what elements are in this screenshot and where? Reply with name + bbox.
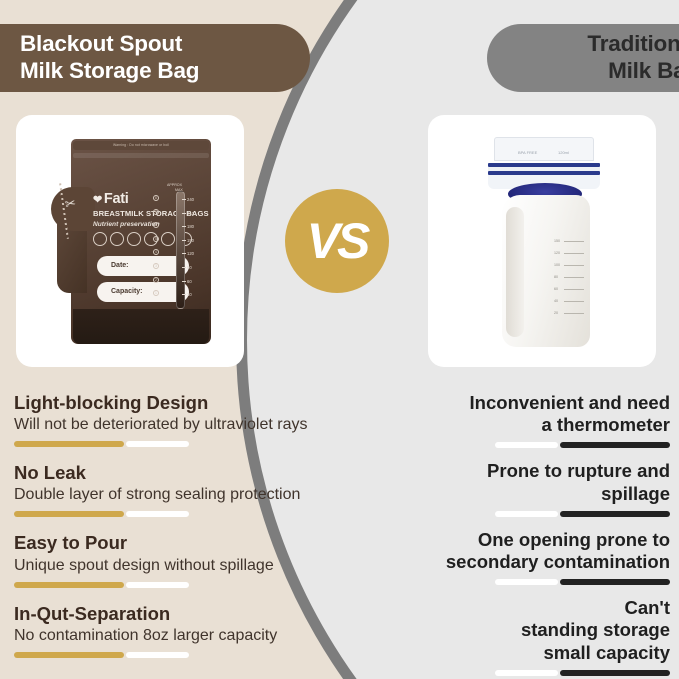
accent-bar-gold	[14, 582, 124, 588]
right-header-text: Traditional Milk Bag	[587, 31, 679, 84]
left-feature-title: No Leak	[14, 462, 354, 484]
accent-bar-white	[495, 670, 558, 676]
accent-bar-white	[126, 582, 189, 588]
traditional-scale-line	[564, 289, 584, 290]
left-header-text: Blackout Spout Milk Storage Bag	[20, 31, 199, 84]
left-feature-underline	[14, 652, 354, 658]
right-feature-line-1: Inconvenient and need	[358, 392, 670, 414]
bag-ml-tick: 90	[187, 265, 192, 270]
right-product-card: BPA FREE 120ml 15012010080604020	[428, 115, 656, 367]
accent-bar-dark	[560, 511, 670, 517]
bag-oz-tick: 4	[153, 249, 159, 255]
traditional-milk-bag-image: BPA FREE 120ml 15012010080604020	[480, 137, 608, 347]
left-product-card: Warning : Do not microwave or boil ✂ ❤ F…	[16, 115, 244, 367]
accent-bar-white	[126, 511, 189, 517]
left-header-line-1: Blackout Spout	[20, 31, 199, 58]
accent-bar-dark	[560, 442, 670, 448]
right-feature-line-1: Prone to rupture and	[358, 460, 670, 482]
accent-bar-white	[126, 652, 189, 658]
bag-oz-tick: 1	[153, 290, 159, 296]
recycle-icon	[110, 232, 124, 246]
left-feature-item: Easy to PourUnique spout design without …	[14, 532, 354, 587]
right-feature-line-1: One opening prone to	[358, 529, 670, 551]
left-feature-item: Light-blocking DesignWill not be deterio…	[14, 392, 354, 447]
left-feature-item: No LeakDouble layer of strong sealing pr…	[14, 462, 354, 517]
traditional-scale-line	[564, 313, 584, 314]
bag-measurement-window	[176, 191, 185, 309]
traditional-bag-fold	[506, 207, 524, 337]
right-feature-line-2: spillage	[358, 483, 670, 505]
traditional-scale-label: 150	[554, 239, 560, 243]
right-feature-underline	[358, 579, 670, 585]
right-header-pill: Traditional Milk Bag	[487, 24, 679, 92]
comparison-infographic: Blackout Spout Milk Storage Bag Traditio…	[0, 0, 679, 679]
right-feature-item: Inconvenient and needa thermometer	[358, 392, 670, 448]
bag-oz-tick: 3	[153, 263, 159, 269]
traditional-bag-measurement-scale: 15012010080604020	[554, 241, 584, 329]
right-feature-underline	[358, 442, 670, 448]
accent-bar-white	[126, 441, 189, 447]
left-feature-title: Easy to Pour	[14, 532, 354, 554]
bag-seal	[73, 153, 209, 158]
traditional-scale-line	[564, 241, 584, 242]
bag-brand-name: Fati	[104, 191, 129, 207]
right-feature-underline	[358, 511, 670, 517]
accent-bar-gold	[14, 511, 124, 517]
traditional-bag-label-left: BPA FREE	[518, 150, 537, 155]
bag-oz-tick: 5	[153, 236, 159, 242]
left-header-pill: Blackout Spout Milk Storage Bag	[0, 24, 310, 92]
bag-ml-tick: 240	[187, 197, 194, 202]
right-feature-item: Prone to rupture andspillage	[358, 460, 670, 516]
right-header-line-1: Traditional	[587, 31, 679, 58]
traditional-scale-line	[564, 277, 584, 278]
bag-oz-tick: 7	[153, 209, 159, 215]
right-header-line-2: Milk Bag	[587, 58, 679, 85]
traditional-scale-label: 20	[554, 311, 558, 315]
bag-oz-tick: 8	[153, 195, 159, 201]
left-feature-item: In-Qut-SeparationNo contamination 8oz la…	[14, 603, 354, 658]
traditional-scale-line	[564, 253, 584, 254]
blackout-spout-milk-bag-image: Warning : Do not microwave or boil ✂ ❤ F…	[51, 139, 211, 344]
vs-badge: VS	[285, 189, 389, 293]
left-feature-underline	[14, 441, 354, 447]
traditional-scale-line	[564, 301, 584, 302]
right-feature-line-2: standing storage	[358, 619, 670, 641]
traditional-scale-line	[564, 265, 584, 266]
right-feature-line-2: a thermometer	[358, 414, 670, 436]
traditional-scale-label: 80	[554, 275, 558, 279]
accent-bar-gold	[14, 652, 124, 658]
bag-ml-tick-labels: 240210180150120906030	[187, 191, 211, 309]
bag-scale-approx-label: APPROX	[167, 183, 182, 187]
bag-bottom-gusset	[73, 309, 209, 344]
right-feature-item: Can'tstanding storagesmall capacity	[358, 597, 670, 676]
no-phone-icon	[127, 232, 141, 246]
left-header-line-2: Milk Storage Bag	[20, 58, 199, 85]
accent-bar-dark	[560, 579, 670, 585]
traditional-scale-label: 40	[554, 299, 558, 303]
right-feature-line-2: secondary contamination	[358, 551, 670, 573]
right-feature-list: Inconvenient and needa thermometerProne …	[358, 392, 670, 679]
heart-icon: ❤	[93, 193, 102, 206]
bag-ml-tick: 210	[187, 211, 194, 216]
bag-ml-tick: 120	[187, 251, 194, 256]
bag-ml-tick: 60	[187, 279, 192, 284]
bag-ml-tick: 180	[187, 224, 194, 229]
accent-bar-white	[495, 579, 558, 585]
bag-ml-tick: 150	[187, 238, 194, 243]
traditional-scale-label: 60	[554, 287, 558, 291]
left-feature-desc: Unique spout design without spillage	[14, 556, 354, 576]
accent-bar-white	[495, 442, 558, 448]
traditional-bag-top-panel	[494, 137, 594, 161]
accent-bar-dark	[560, 670, 670, 676]
vs-label: VS	[307, 216, 368, 266]
left-feature-underline	[14, 582, 354, 588]
right-feature-line-3: small capacity	[358, 642, 670, 664]
right-feature-item: One opening prone tosecondary contaminat…	[358, 529, 670, 585]
bpa-free-icon	[93, 232, 107, 246]
left-feature-underline	[14, 511, 354, 517]
accent-bar-white	[495, 511, 558, 517]
left-feature-desc: Will not be deteriorated by ultraviolet …	[14, 415, 354, 435]
left-feature-desc: Double layer of strong sealing protectio…	[14, 485, 354, 505]
left-feature-list: Light-blocking DesignWill not be deterio…	[14, 392, 354, 673]
bag-warning-text: Warning : Do not microwave or boil	[85, 141, 197, 150]
bag-oz-tick: 6	[153, 222, 159, 228]
accent-bar-gold	[14, 441, 124, 447]
bag-ml-tick: 30	[187, 292, 192, 297]
right-feature-line-1: Can't	[358, 597, 670, 619]
bag-neck	[57, 221, 87, 293]
traditional-bag-label-right: 120ml	[558, 150, 569, 155]
traditional-scale-label: 120	[554, 251, 560, 255]
bag-oz-tick-labels: 87654321	[153, 191, 167, 309]
traditional-scale-label: 100	[554, 263, 560, 267]
bag-oz-tick: 2	[153, 277, 159, 283]
right-feature-underline	[358, 670, 670, 676]
left-feature-title: In-Qut-Separation	[14, 603, 354, 625]
left-feature-title: Light-blocking Design	[14, 392, 354, 414]
left-feature-desc: No contamination 8oz larger capacity	[14, 626, 354, 646]
